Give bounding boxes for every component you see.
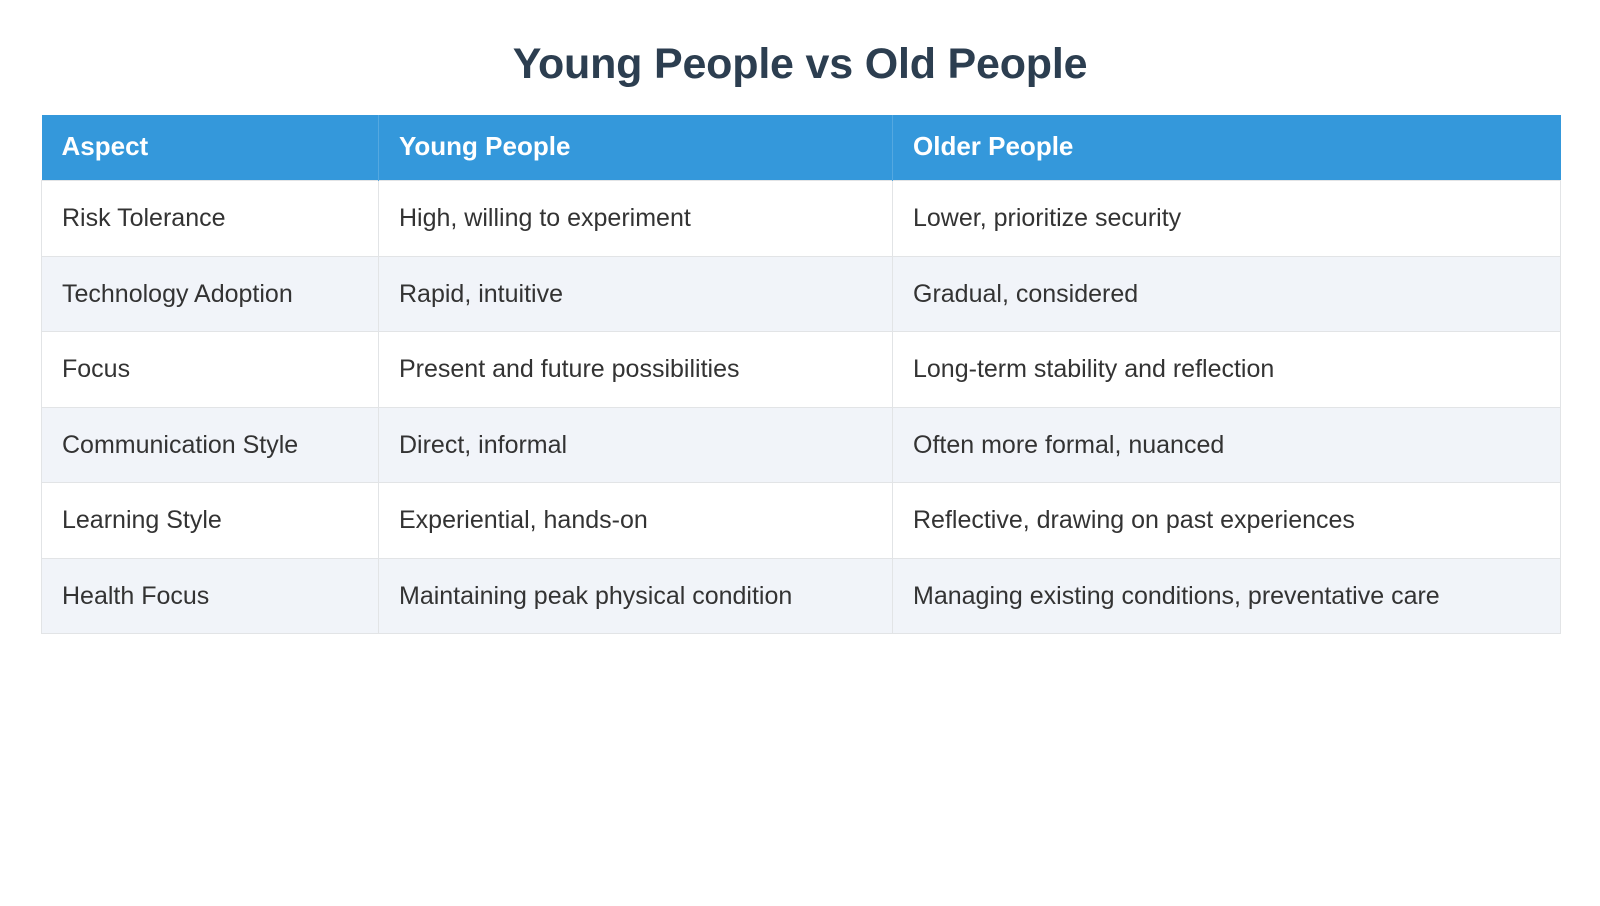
page-title: Young People vs Old People [0, 40, 1600, 89]
table-body: Risk Tolerance High, willing to experime… [42, 181, 1561, 634]
table-row: Risk Tolerance High, willing to experime… [42, 181, 1561, 257]
cell-aspect: Health Focus [42, 558, 379, 634]
table-row: Focus Present and future possibilities L… [42, 332, 1561, 408]
cell-older-people: Gradual, considered [893, 256, 1561, 332]
comparison-table-wrapper: Aspect Young People Older People Risk To… [41, 115, 1560, 634]
cell-older-people: Lower, prioritize security [893, 181, 1561, 257]
cell-young-people: High, willing to experiment [379, 181, 893, 257]
column-header-older-people: Older People [893, 115, 1561, 181]
cell-young-people: Direct, informal [379, 407, 893, 483]
cell-aspect: Risk Tolerance [42, 181, 379, 257]
cell-older-people: Long-term stability and reflection [893, 332, 1561, 408]
cell-young-people: Experiential, hands-on [379, 483, 893, 559]
table-row: Communication Style Direct, informal Oft… [42, 407, 1561, 483]
page-root: Young People vs Old People Aspect Young … [0, 0, 1600, 906]
table-row: Technology Adoption Rapid, intuitive Gra… [42, 256, 1561, 332]
cell-aspect: Communication Style [42, 407, 379, 483]
table-row: Learning Style Experiential, hands-on Re… [42, 483, 1561, 559]
column-header-aspect: Aspect [42, 115, 379, 181]
cell-young-people: Maintaining peak physical condition [379, 558, 893, 634]
cell-older-people: Often more formal, nuanced [893, 407, 1561, 483]
cell-young-people: Rapid, intuitive [379, 256, 893, 332]
cell-older-people: Reflective, drawing on past experiences [893, 483, 1561, 559]
column-header-young-people: Young People [379, 115, 893, 181]
cell-aspect: Technology Adoption [42, 256, 379, 332]
cell-young-people: Present and future possibilities [379, 332, 893, 408]
cell-aspect: Focus [42, 332, 379, 408]
cell-aspect: Learning Style [42, 483, 379, 559]
cell-older-people: Managing existing conditions, preventati… [893, 558, 1561, 634]
comparison-table: Aspect Young People Older People Risk To… [41, 115, 1561, 634]
table-row: Health Focus Maintaining peak physical c… [42, 558, 1561, 634]
table-header-row: Aspect Young People Older People [42, 115, 1561, 181]
table-header: Aspect Young People Older People [42, 115, 1561, 181]
